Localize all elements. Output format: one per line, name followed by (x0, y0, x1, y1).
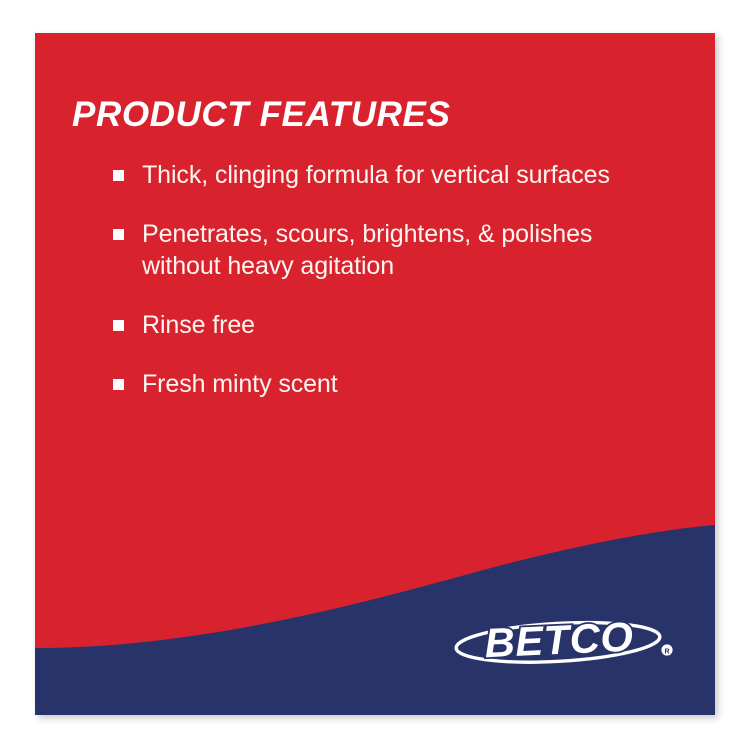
betco-logo: BETCO R (453, 616, 678, 668)
betco-wordmark: BETCO (484, 616, 635, 666)
feature-text-line-1: Thick, clinging formula for vertical sur… (142, 159, 673, 191)
feature-text-line-1: Rinse free (142, 309, 673, 341)
list-item: Rinse free (113, 309, 673, 341)
betco-logo-svg: BETCO R (453, 616, 678, 668)
svg-text:R: R (664, 648, 669, 655)
screenshot-canvas: PRODUCT FEATURES Thick, clinging formula… (0, 0, 750, 750)
feature-text-line-1: Fresh minty scent (142, 368, 673, 400)
list-item: Thick, clinging formula for vertical sur… (113, 159, 673, 191)
square-bullet-icon (113, 170, 124, 181)
registered-trademark-icon: R (661, 644, 672, 655)
page-title: PRODUCT FEATURES (72, 97, 450, 132)
square-bullet-icon (113, 320, 124, 331)
list-item: Penetrates, scours, brightens, & polishe… (113, 218, 673, 282)
product-features-card: PRODUCT FEATURES Thick, clinging formula… (35, 33, 715, 715)
square-bullet-icon (113, 379, 124, 390)
feature-text-line-1: Penetrates, scours, brightens, & polishe… (142, 218, 673, 250)
square-bullet-icon (113, 229, 124, 240)
navy-wave-footer (35, 515, 715, 715)
feature-text-line-2: without heavy agitation (142, 250, 673, 282)
list-item: Fresh minty scent (113, 368, 673, 400)
feature-list: Thick, clinging formula for vertical sur… (113, 159, 673, 400)
